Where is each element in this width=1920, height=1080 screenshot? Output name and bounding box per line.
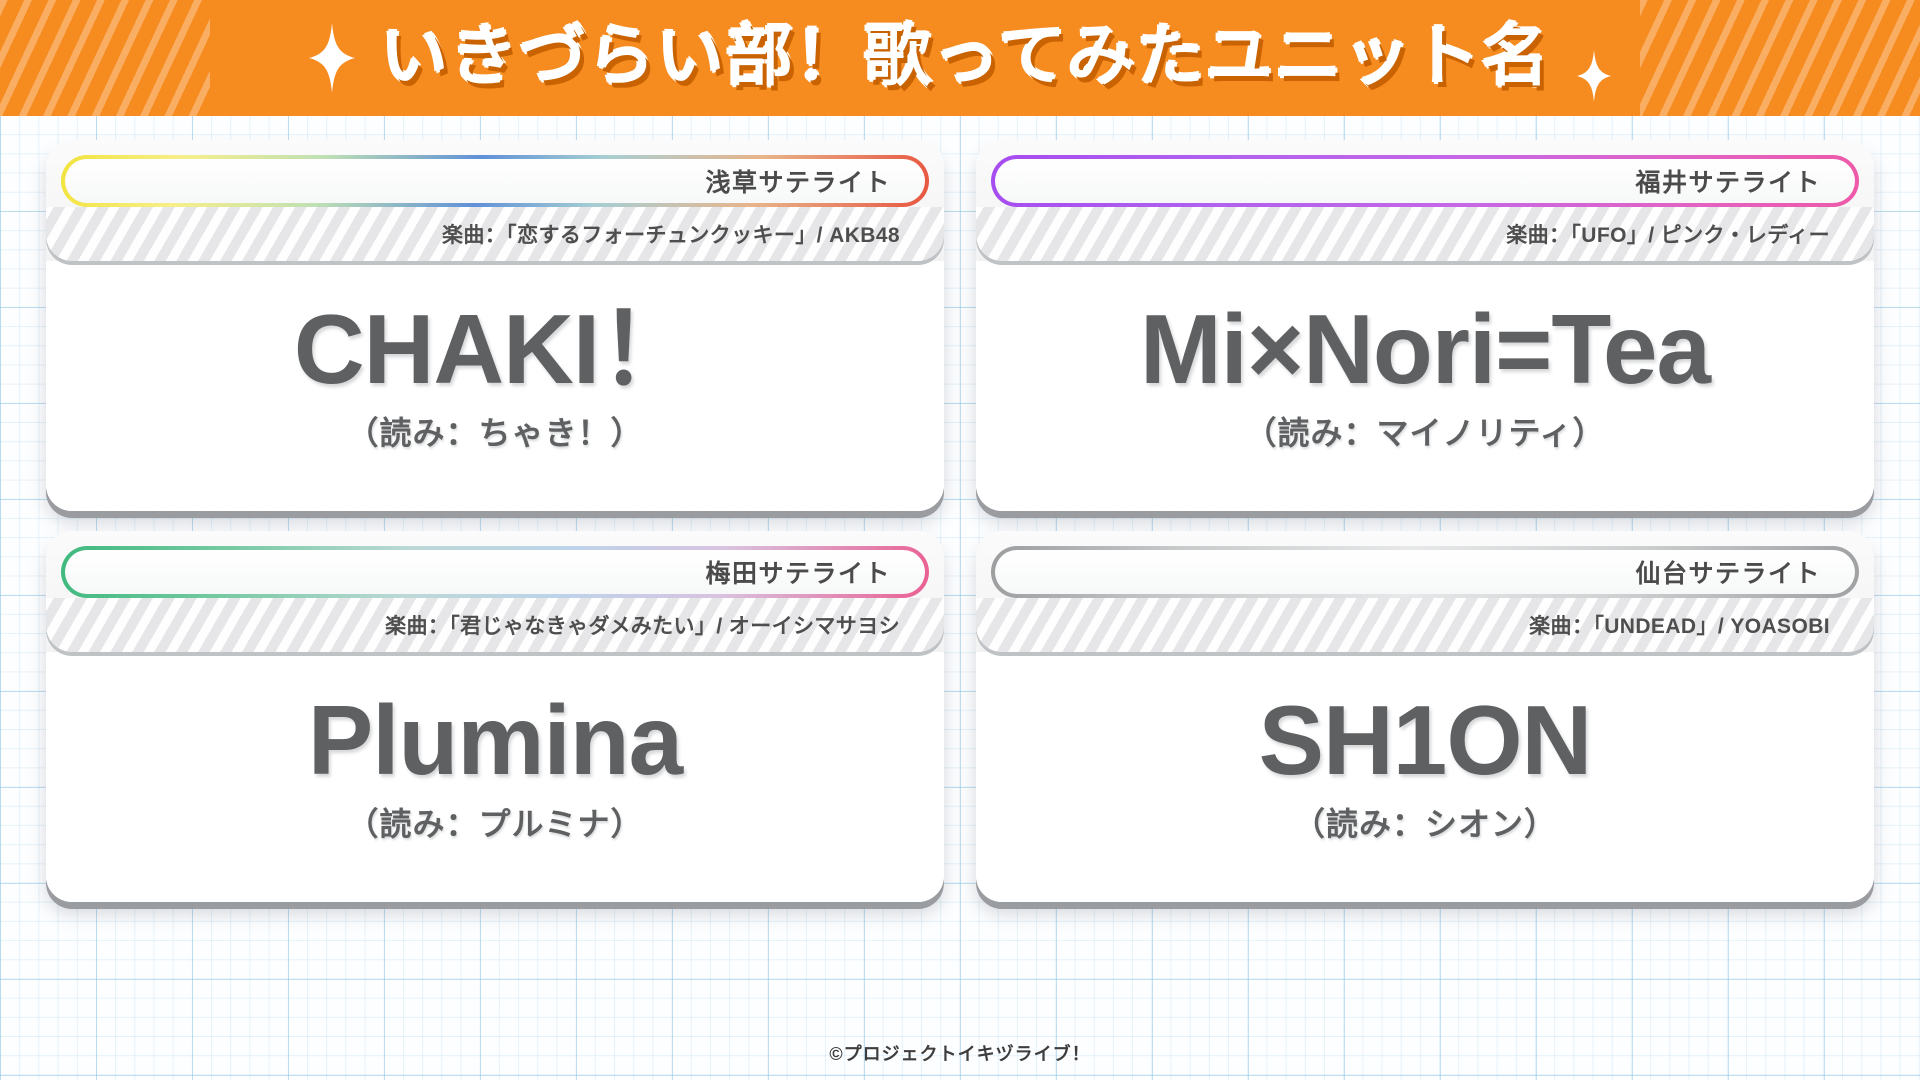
unit-card[interactable]: 浅草サテライト 楽曲：「恋するフォーチュンクッキー」/ AKB48 CHAKI！… xyxy=(46,140,944,511)
card-header: 仙台サテライト 楽曲：「UNDEAD」/ YOASOBI xyxy=(976,531,1874,652)
song-info: 楽曲：「恋するフォーチュンクッキー」/ AKB48 xyxy=(442,219,900,249)
song-strip: 楽曲：「UNDEAD」/ YOASOBI xyxy=(976,598,1874,652)
sparkle-icon xyxy=(1577,50,1611,102)
card-header: 浅草サテライト 楽曲：「恋するフォーチュンクッキー」/ AKB48 xyxy=(46,140,944,261)
copyright-text: ©プロジェクトイキヅライブ！ xyxy=(829,1044,1090,1064)
banner-title-row: いきづらい部！歌ってみたユニット名 xyxy=(0,0,1920,116)
song-info: 楽曲：「UNDEAD」/ YOASOBI xyxy=(1529,610,1830,640)
satellite-pill: 梅田サテライト xyxy=(61,546,929,598)
satellite-name: 梅田サテライト xyxy=(705,554,891,590)
song-strip: 楽曲：「UFO」/ ピンク・レディー xyxy=(976,207,1874,261)
footer: ©プロジェクトイキヅライブ！ xyxy=(0,1040,1920,1066)
header-banner: いきづらい部！歌ってみたユニット名 xyxy=(0,0,1920,116)
unit-reading: （読み：ちゃき！） xyxy=(346,408,643,454)
satellite-pill-inner: 浅草サテライト xyxy=(65,159,925,203)
song-strip: 楽曲：「君じゃなきゃダメみたい」/ オーイシマサヨシ xyxy=(46,598,944,652)
satellite-name: 福井サテライト xyxy=(1635,163,1821,199)
unit-card[interactable]: 梅田サテライト 楽曲：「君じゃなきゃダメみたい」/ オーイシマサヨシ Plumi… xyxy=(46,531,944,902)
unit-reading: （読み：シオン） xyxy=(1293,799,1557,845)
card-header: 梅田サテライト 楽曲：「君じゃなきゃダメみたい」/ オーイシマサヨシ xyxy=(46,531,944,652)
unit-name: Plumina xyxy=(308,691,682,791)
unit-name: Mi×Nori=Tea xyxy=(1140,300,1710,400)
card-body: Plumina （読み：プルミナ） xyxy=(46,652,944,902)
satellite-pill: 浅草サテライト xyxy=(61,155,929,207)
unit-card[interactable]: 仙台サテライト 楽曲：「UNDEAD」/ YOASOBI SH1ON （読み：シ… xyxy=(976,531,1874,902)
unit-reading: （読み：マイノリティ） xyxy=(1244,408,1605,454)
song-info: 楽曲：「君じゃなきゃダメみたい」/ オーイシマサヨシ xyxy=(385,610,900,640)
song-info: 楽曲：「UFO」/ ピンク・レディー xyxy=(1506,219,1830,249)
sparkle-icon xyxy=(309,23,355,93)
satellite-pill-inner: 福井サテライト xyxy=(995,159,1855,203)
satellite-pill-inner: 梅田サテライト xyxy=(65,550,925,594)
satellite-pill-inner: 仙台サテライト xyxy=(995,550,1855,594)
satellite-pill: 福井サテライト xyxy=(991,155,1859,207)
song-strip: 楽曲：「恋するフォーチュンクッキー」/ AKB48 xyxy=(46,207,944,261)
unit-name: CHAKI！ xyxy=(294,300,696,400)
unit-reading: （読み：プルミナ） xyxy=(346,799,643,845)
card-body: Mi×Nori=Tea （読み：マイノリティ） xyxy=(976,261,1874,511)
satellite-name: 浅草サテライト xyxy=(705,163,891,199)
page-title: いきづらい部！歌ってみたユニット名 xyxy=(381,23,1551,90)
unit-card-grid: 浅草サテライト 楽曲：「恋するフォーチュンクッキー」/ AKB48 CHAKI！… xyxy=(46,140,1874,1002)
satellite-name: 仙台サテライト xyxy=(1635,554,1821,590)
unit-card[interactable]: 福井サテライト 楽曲：「UFO」/ ピンク・レディー Mi×Nori=Tea （… xyxy=(976,140,1874,511)
satellite-pill: 仙台サテライト xyxy=(991,546,1859,598)
card-header: 福井サテライト 楽曲：「UFO」/ ピンク・レディー xyxy=(976,140,1874,261)
card-body: SH1ON （読み：シオン） xyxy=(976,652,1874,902)
card-body: CHAKI！ （読み：ちゃき！） xyxy=(46,261,944,511)
unit-name: SH1ON xyxy=(1259,691,1592,791)
